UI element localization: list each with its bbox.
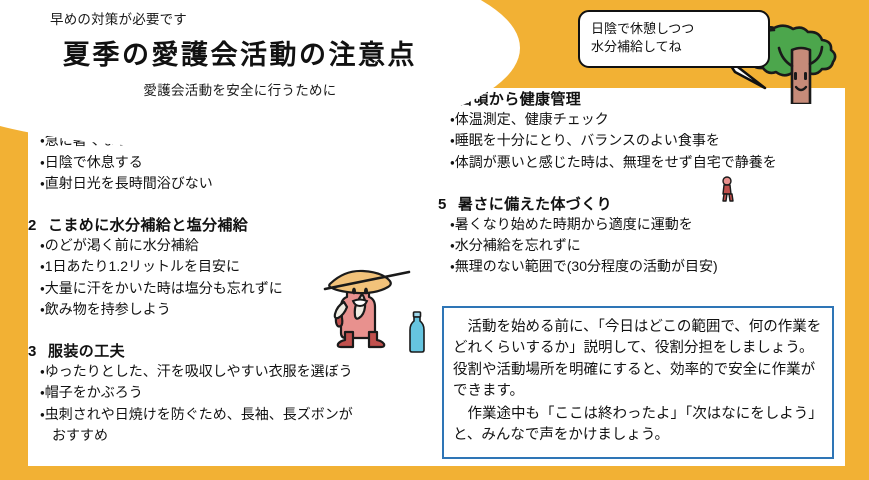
speech-bubble: 日陰で休憩しつつ 水分補給してね <box>578 10 770 68</box>
section-5: 5暑さに備えた体づくり ・暑くなり始めた時期から適度に運動を ・水分補給を忘れず… <box>438 193 838 278</box>
section-4-bullet-2: ・睡眠を十分にとり、バランスのよい食事を <box>438 130 838 151</box>
section-5-heading: 5暑さに備えた体づくり <box>438 193 838 214</box>
speech-bubble-line-1: 日陰で休憩しつつ <box>591 20 759 38</box>
section-2-bullet-1: ・のどが渇く前に水分補給 <box>28 235 428 256</box>
spacer-3 <box>438 177 838 193</box>
section-1-bullet-4: ・直射日光を長時間浴びない <box>28 173 428 194</box>
section-5-title: 暑さに備えた体づくり <box>458 196 612 213</box>
section-2-number: 2 <box>28 217 48 234</box>
section-4-bullet-1: ・体温測定、健康チェック <box>438 109 838 130</box>
water-bottle-illustration <box>407 310 427 359</box>
section-2-heading: 2こまめに水分補給と塩分補給 <box>28 214 428 235</box>
small-person-figure-illustration <box>718 176 736 207</box>
section-5-bullet-3: ・無理のない範囲で(30分程度の活動が目安) <box>438 256 838 277</box>
header-eyebrow: 早めの対策が必要です <box>50 8 440 28</box>
right-column: 4日頃から健康管理 ・体温測定、健康チェック ・睡眠を十分にとり、バランスのよい… <box>438 88 838 282</box>
section-5-bullet-1: ・暑くなり始めた時期から適度に運動を <box>438 214 838 235</box>
section-3-bullet-3: ・虫刺されや日焼けを防ぐため、長袖、長ズボンが おすすめ <box>28 404 428 447</box>
section-1-bullet-3: ・日陰で休息する <box>28 152 428 173</box>
section-3-bullet-1: ・ゆったりとした、汗を吸収しやすい衣服を選ぼう <box>28 361 428 382</box>
poster-header: 早めの対策が必要です 夏季の愛護会活動の注意点 愛護会活動を安全に行うために <box>40 8 440 99</box>
info-box: 活動を始める前に、「今日はどこの範囲で、何の作業をどれくらいするか」説明して、役… <box>442 306 834 459</box>
person-with-straw-hat-illustration <box>317 256 421 359</box>
speech-bubble-line-2: 水分補給してね <box>591 38 759 56</box>
section-3-bullet-2: ・帽子をかぶろう <box>28 382 428 403</box>
page-title: 夏季の愛護会活動の注意点 <box>40 33 440 72</box>
section-3-bullet-3-line-1: ・虫刺されや日焼けを防ぐため、長袖、長ズボンが <box>40 406 353 422</box>
info-box-paragraph-2: 作業途中も「ここは終わったよ」「次はなにをしよう」と、みんなで声をかけましょう。 <box>453 404 823 447</box>
section-3-bullet-3-line-2: おすすめ <box>42 425 428 446</box>
section-3-title: 服装の工夫 <box>48 343 125 360</box>
section-5-bullet-2: ・水分補給を忘れずに <box>438 235 838 256</box>
header-subtitle: 愛護会活動を安全に行うために <box>40 79 440 99</box>
section-4-bullet-3: ・体調が悪いと感じた時は、無理をせず自宅で静養を <box>438 152 838 173</box>
section-3-number: 3 <box>28 343 48 360</box>
poster-root: 早めの対策が必要です 夏季の愛護会活動の注意点 愛護会活動を安全に行うために <box>0 0 869 480</box>
section-2-title: こまめに水分補給と塩分補給 <box>48 217 248 234</box>
info-box-paragraph-1: 活動を始める前に、「今日はどこの範囲で、何の作業をどれくらいするか」説明して、役… <box>453 317 823 403</box>
spacer-1 <box>28 198 428 214</box>
section-5-number: 5 <box>438 196 458 213</box>
